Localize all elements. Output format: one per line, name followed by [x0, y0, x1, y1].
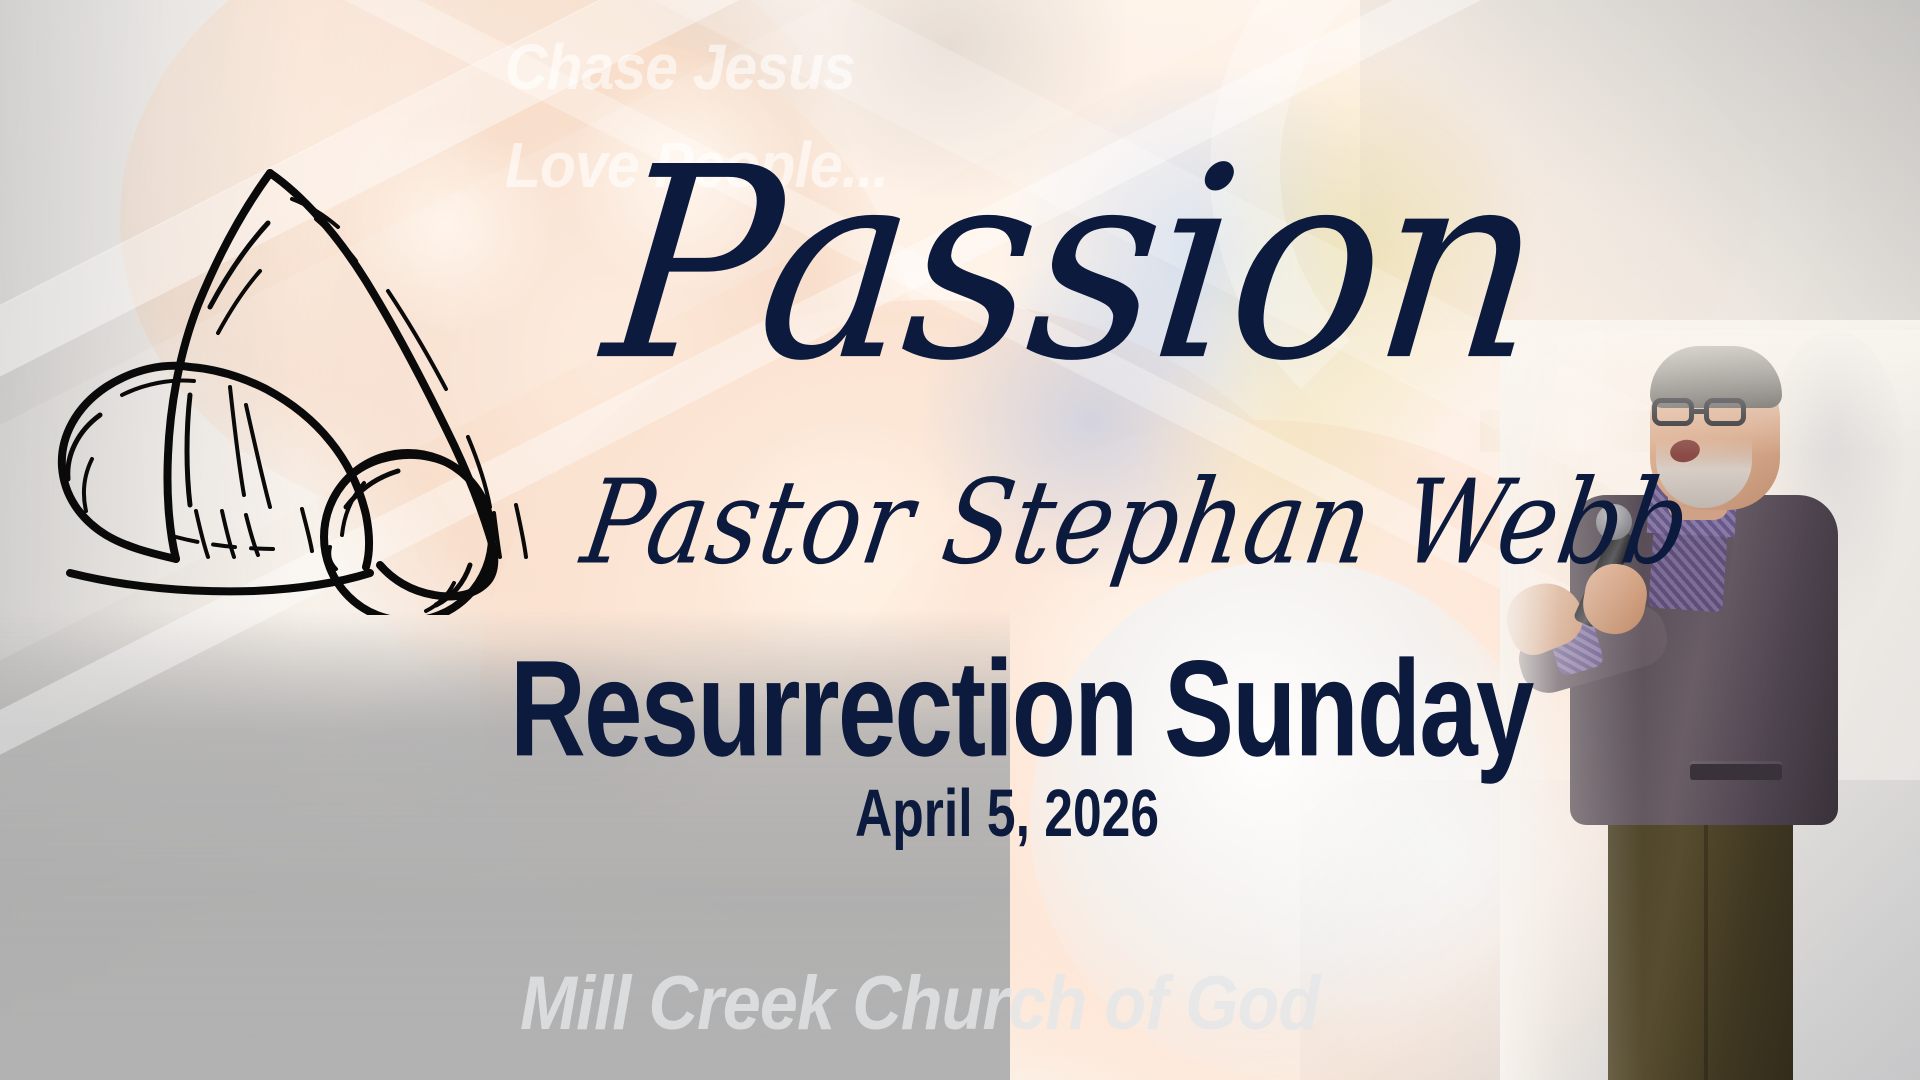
- pastor-speaking-photo: [1500, 320, 1920, 1080]
- event-title: Resurrection Sunday: [510, 640, 1533, 777]
- event-date: April 5, 2026: [855, 780, 1159, 847]
- watermark-organization: Mill Creek Church of God: [520, 960, 1319, 1047]
- speaker-name: Pastor Stephan Webb: [576, 464, 1699, 580]
- watermark-tagline-line1: Chase Jesus: [505, 30, 855, 104]
- slide-canvas: Chase Jesus Love People...: [0, 0, 1920, 1080]
- series-title: Passion: [596, 133, 1550, 398]
- pastor-photo-top-fade: [1500, 320, 1920, 1080]
- empty-tomb-illustration: [30, 155, 560, 615]
